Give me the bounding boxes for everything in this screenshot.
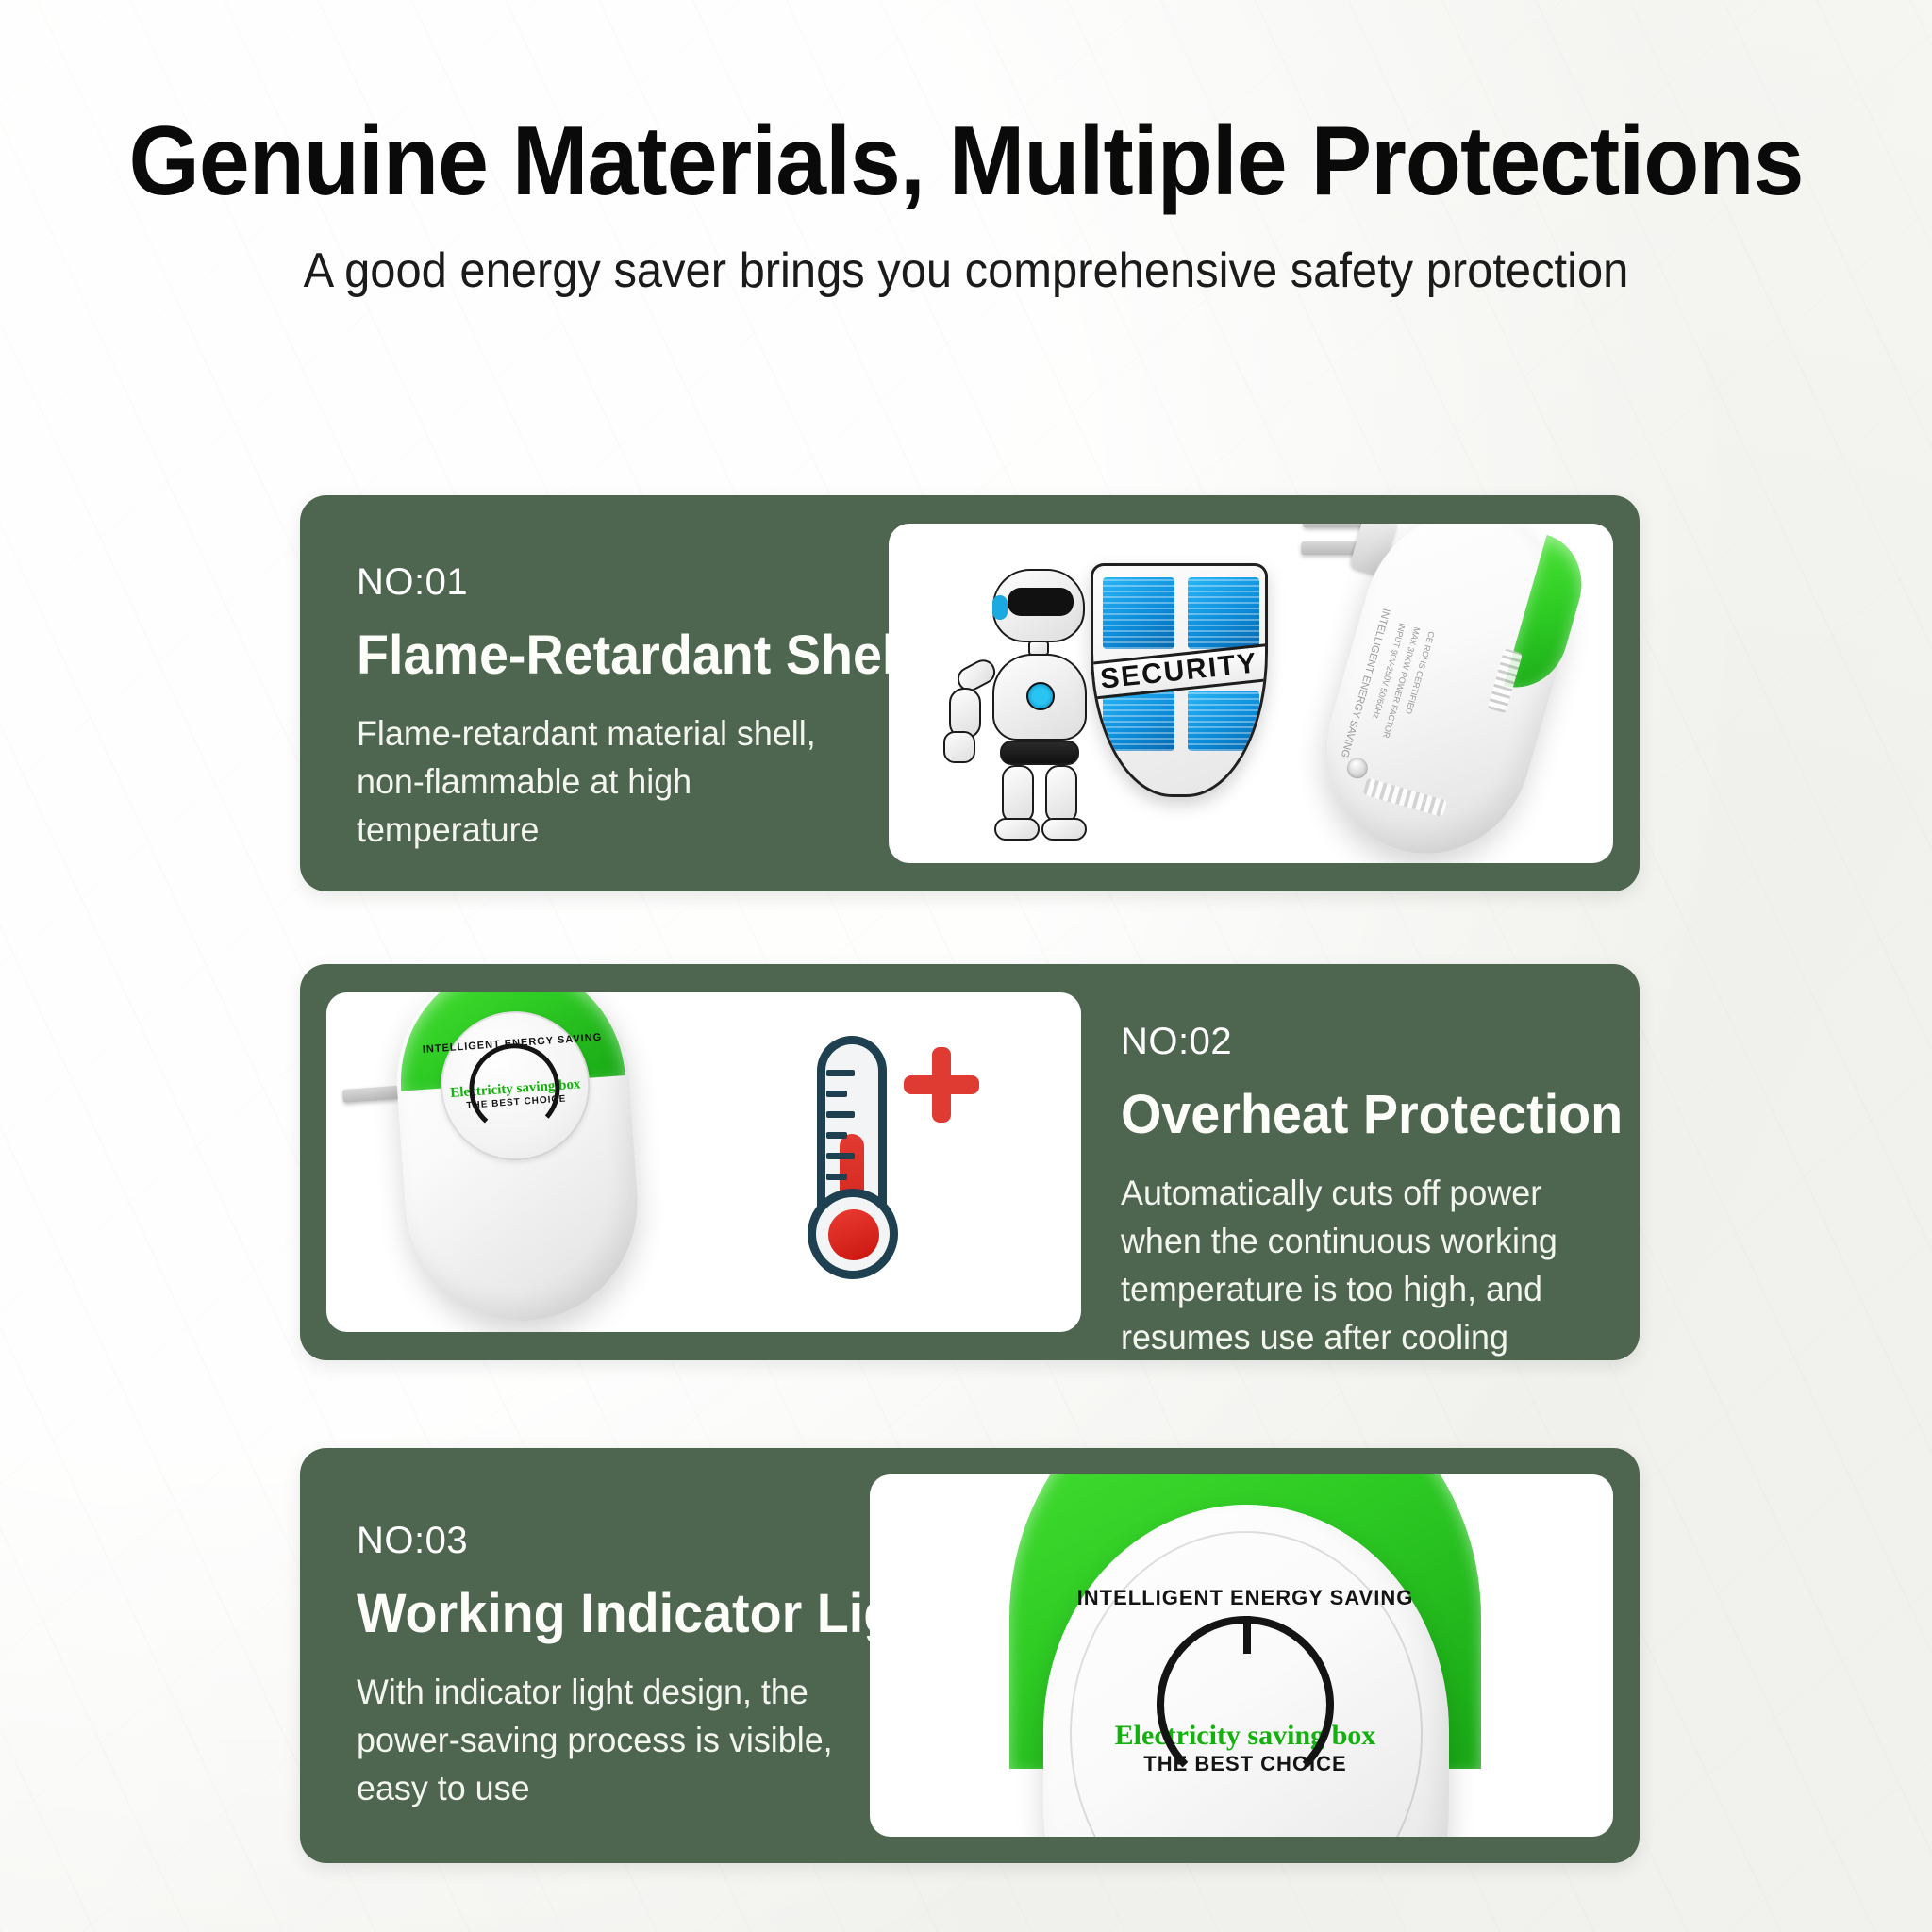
card-1-text-block: NO:01 Flame-Retardant Shell Flame-retard… [357, 563, 871, 854]
card-2-text-block: NO:02 Overheat Protection Automatically … [1121, 1023, 1616, 1361]
card-3-text-block: NO:03 Working Indicator Light With indic… [357, 1522, 871, 1812]
card-2-photo: INTELLIGENT ENERGY SAVING Electricity sa… [326, 992, 1081, 1332]
card-1-photo: SECURITY INTELLIGENT ENERGY SAVING INPUT… [889, 524, 1613, 863]
header: Genuine Materials, Multiple Protections … [0, 0, 1932, 299]
feature-card-working-indicator-light[interactable]: NO:03 Working Indicator Light With indic… [300, 1448, 1640, 1863]
card-1-description: Flame-retardant material shell, non-flam… [357, 709, 856, 854]
page-subtitle: A good energy saver brings you comprehen… [58, 242, 1874, 299]
shield-label: SECURITY [1099, 647, 1259, 695]
thermometer-icon [738, 1036, 992, 1300]
robot-visor [1008, 588, 1074, 616]
card-3-heading: Working Indicator Light [357, 1586, 850, 1643]
feature-card-flame-retardant-shell[interactable]: NO:01 Flame-Retardant Shell Flame-retard… [300, 495, 1640, 891]
feature-card-overheat-protection[interactable]: INTELLIGENT ENERGY SAVING Electricity sa… [300, 964, 1640, 1360]
energy-saver-device: INTELLIGENT ENERGY SAVING Electricity sa… [351, 992, 689, 1332]
card-2-number: NO:02 [1121, 1023, 1616, 1060]
card-1-heading: Flame-Retardant Shell [357, 627, 850, 685]
robot-core-light [1026, 682, 1055, 710]
energy-saver-device-closeup: INTELLIGENT ENERGY SAVING Electricity sa… [953, 1474, 1538, 1837]
robot-ear-left [992, 595, 1008, 620]
dial-needle [1243, 1616, 1251, 1654]
card-3-photo: INTELLIGENT ENERGY SAVING Electricity sa… [870, 1474, 1613, 1837]
card-3-description: With indicator light design, the power-s… [357, 1668, 856, 1812]
device-dial-label: INTELLIGENT ENERGY SAVING Electricity sa… [1104, 1565, 1387, 1837]
card-3-number: NO:03 [357, 1522, 871, 1559]
card-1-number: NO:01 [357, 563, 871, 601]
card-2-description: Automatically cuts off power when the co… [1121, 1169, 1601, 1361]
page-title: Genuine Materials, Multiple Protections [68, 106, 1865, 218]
device-arc-text: INTELLIGENT ENERGY SAVING [1077, 1586, 1414, 1610]
plug-prong-1 [342, 1086, 400, 1103]
card-2-heading: Overheat Protection [1121, 1087, 1596, 1144]
